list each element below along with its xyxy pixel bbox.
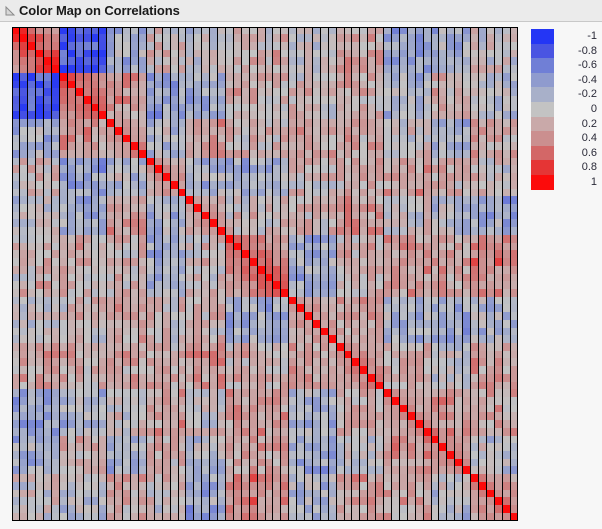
legend-tick-label: -1 — [559, 29, 597, 44]
legend-swatch — [531, 87, 554, 102]
heatmap-canvas[interactable] — [12, 27, 518, 521]
color-map-panel: Color Map on Correlations -1-0.8-0.6-0.4… — [0, 0, 602, 529]
legend-tick-label: 0.4 — [559, 131, 597, 146]
legend-tick-label: 0 — [559, 102, 597, 117]
legend-tick-label: -0.4 — [559, 73, 597, 88]
legend-tick-labels: -1-0.8-0.6-0.4-0.200.20.40.60.81 — [554, 29, 597, 190]
legend-swatch — [531, 175, 554, 190]
legend-swatch — [531, 131, 554, 146]
legend-swatch — [531, 58, 554, 73]
panel-header: Color Map on Correlations — [0, 0, 602, 22]
legend-swatch — [531, 29, 554, 44]
legend-swatch — [531, 160, 554, 175]
page-title: Color Map on Correlations — [19, 4, 180, 18]
legend-tick-label: 0.6 — [559, 146, 597, 161]
legend-tick-label: -0.2 — [559, 87, 597, 102]
legend-swatch — [531, 102, 554, 117]
legend-tick-label: 1 — [559, 175, 597, 190]
legend-swatch — [531, 117, 554, 132]
legend-swatch — [531, 146, 554, 161]
legend-color-bar — [531, 29, 554, 190]
color-legend: -1-0.8-0.6-0.4-0.200.20.40.60.81 — [531, 29, 597, 190]
triangle-disclosure-icon[interactable] — [4, 5, 16, 17]
legend-tick-label: 0.2 — [559, 117, 597, 132]
legend-swatch — [531, 44, 554, 59]
legend-swatch — [531, 73, 554, 88]
legend-tick-label: -0.6 — [559, 58, 597, 73]
correlation-heatmap[interactable] — [12, 27, 518, 521]
legend-tick-label: -0.8 — [559, 44, 597, 59]
legend-tick-label: 0.8 — [559, 160, 597, 175]
